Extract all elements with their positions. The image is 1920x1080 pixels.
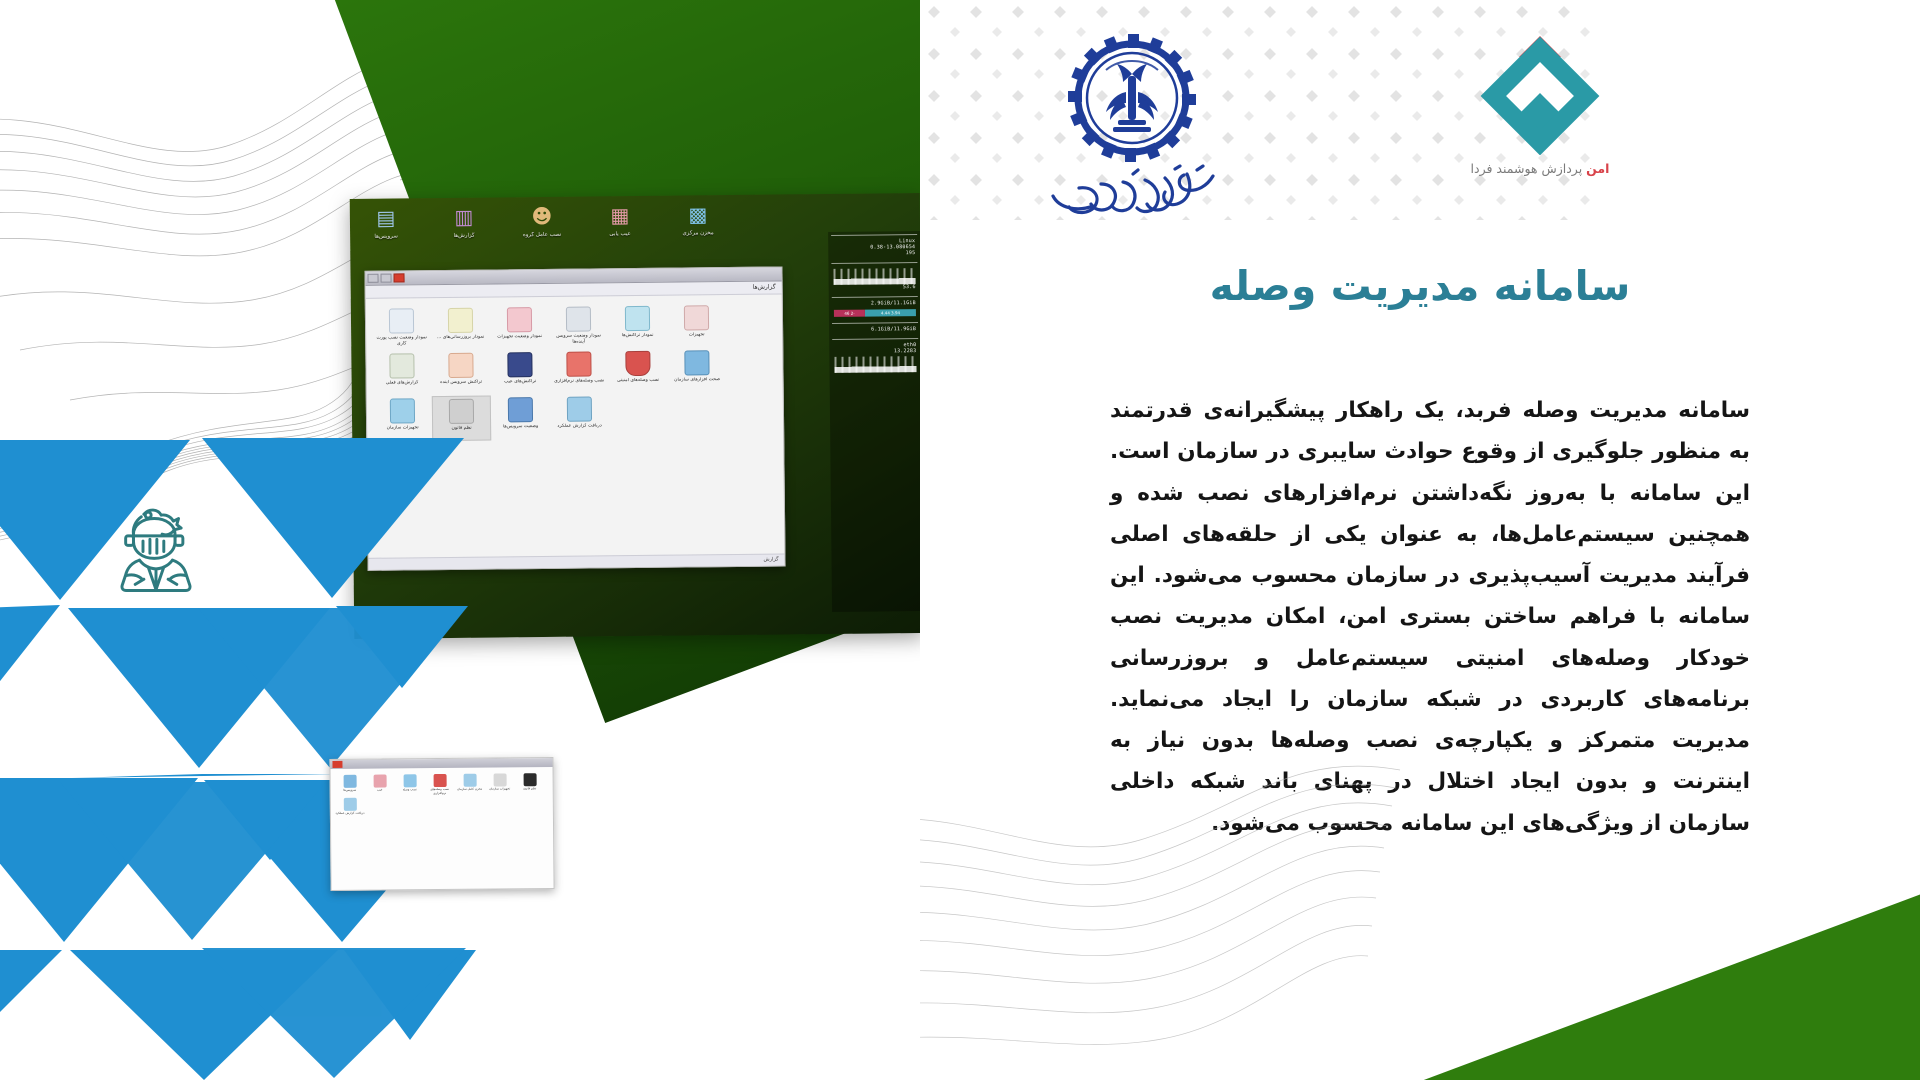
filmstrip-icon bbox=[448, 353, 473, 378]
swap-value: 6.1GiB/11.9GiB bbox=[834, 326, 916, 333]
reports-icon: ▥ bbox=[438, 204, 490, 231]
grid-item-label: تراکنش‌های عیب bbox=[492, 379, 549, 392]
devices-icon bbox=[493, 773, 506, 786]
memory-used-segment: 3.94 4.44 bbox=[865, 309, 916, 317]
grid-item[interactable]: تجهیزات bbox=[667, 303, 726, 347]
desktop-icon: ▤ سرویس‌ها bbox=[360, 204, 413, 267]
sharif-university-logo bbox=[1032, 32, 1232, 212]
desktop-icon: ▥ گزارش‌ها bbox=[438, 204, 491, 267]
grid-item-label: نمودار تراکنش‌ها bbox=[609, 333, 666, 346]
desktop-icon-label: عیب یابی bbox=[594, 231, 646, 238]
report-icon bbox=[389, 353, 414, 378]
topographic-contours-bottom bbox=[920, 760, 1600, 1080]
grid-item-label: نمودار بروزرسانی‌های ... bbox=[432, 335, 489, 348]
services-icon bbox=[343, 775, 356, 788]
blue-triangle-tessellation bbox=[0, 430, 640, 1080]
minimize-icon[interactable] bbox=[367, 274, 378, 283]
desktop-icon-label: مخزن مرکزی bbox=[672, 230, 724, 237]
grid-item-label: نصب وصله‌های نرم‌افزاری bbox=[425, 788, 455, 796]
window-buttons bbox=[367, 273, 404, 282]
content-panel: امن پردازش هوشمند فردا bbox=[920, 0, 1920, 1080]
grid-item-label: مخزن کامل سازمان bbox=[455, 788, 485, 796]
grid-item-label: نصب وصله‌های نرم‌افزاری bbox=[551, 378, 608, 391]
server-icon bbox=[508, 397, 533, 422]
install-agent-icon: ☻ bbox=[516, 203, 568, 230]
net-value: 13.2283 bbox=[834, 348, 916, 355]
grid-item[interactable]: نمودار وضعیت نصب پورت کاری bbox=[372, 306, 431, 350]
grid-item-label: سرویس‌ها bbox=[335, 789, 365, 797]
grid-item-label: عیب bbox=[365, 788, 395, 796]
memory-free-segment: -2 46 bbox=[834, 310, 865, 317]
maximize-icon[interactable] bbox=[380, 274, 391, 283]
grid-item[interactable]: نمودار وضعیت تجهیزات bbox=[490, 305, 549, 349]
troubleshoot-icon bbox=[373, 774, 386, 787]
exchange-icon bbox=[625, 306, 650, 331]
grid-item-label: تجهیزات سازمان bbox=[485, 787, 515, 795]
grid-item-label: تراکنش سرویس آینده bbox=[433, 380, 490, 393]
logo-row: امن پردازش هوشمند فردا bbox=[920, 24, 1920, 214]
grid-item[interactable]: نصب وصله‌های نرم‌افزاری bbox=[425, 774, 455, 796]
pie-chart-icon bbox=[448, 308, 473, 333]
grid-item[interactable]: صحت افزارهای سازمان bbox=[667, 348, 726, 392]
repository-icon bbox=[463, 774, 476, 787]
gavel-icon bbox=[523, 773, 536, 786]
fardad-logo: امن پردازش هوشمند فردا bbox=[1440, 30, 1640, 200]
grid-item-label: نمودار وضعیت سرویس آینده‌ها bbox=[550, 333, 607, 346]
fardad-tagline-rest: پردازش هوشمند فردا bbox=[1471, 161, 1583, 176]
net-sparkline bbox=[834, 356, 916, 373]
secondary-screenshot: سرویس‌ها عیب نصب وصله نصب وصله‌های نرم‌ا… bbox=[329, 757, 554, 891]
kernel-build: 195 bbox=[833, 250, 915, 257]
fardad-tagline-accent: امن bbox=[1586, 161, 1609, 176]
grid-item-label: صحت افزارهای سازمان bbox=[669, 377, 726, 390]
patch-icon bbox=[403, 774, 416, 787]
troubleshoot-icon: ▦ bbox=[594, 202, 646, 229]
left-graphic-panel: ▤ سرویس‌ها ▥ گزارش‌ها ☻ نصب عامل گروه ▦ … bbox=[0, 0, 920, 1080]
grid-item[interactable]: مخزن کامل سازمان bbox=[455, 774, 485, 796]
shield-icon bbox=[625, 351, 650, 376]
cpu-sparkline bbox=[833, 268, 915, 285]
screen-icon bbox=[343, 798, 356, 811]
system-monitor-widget: Linux 0.38-13.080654 195 53.6 2.9GiB/11.… bbox=[828, 231, 920, 612]
services-icon: ▤ bbox=[360, 204, 412, 231]
device-icon bbox=[684, 305, 709, 330]
grid-item-label: تجهیزات bbox=[668, 332, 725, 345]
grid-item[interactable]: نصب وصله‌های نرم‌افزاری bbox=[549, 349, 608, 393]
fardad-tagline: امن پردازش هوشمند فردا bbox=[1440, 161, 1640, 176]
grid-item[interactable]: نمودار وضعیت سرویس آینده‌ها bbox=[549, 304, 608, 348]
memory-value: 2.9GiB/11.1GiB bbox=[834, 300, 916, 307]
grid-item-label: نمودار وضعیت تجهیزات bbox=[491, 334, 548, 347]
bar-chart-icon bbox=[507, 307, 532, 332]
grid-item[interactable]: سرویس‌ها bbox=[335, 775, 365, 797]
grid-item[interactable]: نصب وصله‌های امنیتی bbox=[608, 349, 667, 393]
cloud-icon bbox=[390, 398, 415, 423]
grid-item[interactable]: تراکنش‌های عیب bbox=[490, 350, 549, 394]
module-grid: نمودار وضعیت نصب پورت کاری نمودار بروزرس… bbox=[366, 294, 784, 449]
monitor-block-kernel: Linux 0.38-13.080654 195 bbox=[831, 234, 917, 263]
monitor-block-network: eth0 13.2283 bbox=[832, 338, 918, 379]
chart-line-icon bbox=[389, 308, 414, 333]
desktop-icon-label: سرویس‌ها bbox=[360, 233, 412, 240]
monitor-block-memory: 2.9GiB/11.1GiB 3.94 4.44 -2 46 bbox=[832, 296, 918, 323]
grid-item[interactable]: نصب وصله bbox=[395, 774, 425, 796]
desktop-icon-label: نصب عامل گروه bbox=[516, 232, 568, 239]
desktop-icon: ☻ نصب عامل گروه bbox=[516, 203, 569, 266]
page-title: سامانه مدیریت وصله bbox=[920, 262, 1920, 310]
books-icon bbox=[507, 352, 532, 377]
brochure-page: ▤ سرویس‌ها ▥ گزارش‌ها ☻ نصب عامل گروه ▦ … bbox=[0, 0, 1920, 1080]
grid-item[interactable]: تجهیزات سازمان bbox=[485, 773, 515, 795]
screen-icon bbox=[567, 396, 592, 421]
knight-guard-icon bbox=[104, 496, 208, 600]
grid-item[interactable]: دریافت گزارش عملکرد bbox=[335, 798, 365, 820]
fardad-diamond-mark bbox=[1465, 30, 1615, 155]
grid-item-label: نصب وصله‌های امنیتی bbox=[610, 378, 667, 391]
monitor-block-swap: 6.1GiB/11.9GiB bbox=[832, 322, 918, 339]
close-icon[interactable] bbox=[332, 761, 342, 768]
gavel-icon bbox=[449, 399, 474, 424]
module-grid: سرویس‌ها عیب نصب وصله نصب وصله‌های نرم‌ا… bbox=[331, 767, 553, 826]
grid-item[interactable]: نمودار تراکنش‌ها bbox=[608, 304, 667, 348]
grid-item-label: نظم قانون bbox=[515, 787, 545, 795]
grid-item-label: نصب وصله bbox=[395, 788, 425, 796]
grid-item[interactable]: تراکنش سرویس آینده bbox=[431, 351, 490, 395]
grid-item-label: نمودار وضعیت نصب پورت کاری bbox=[373, 335, 430, 348]
grid-item-label: گزارش‌های فعلی bbox=[374, 380, 431, 393]
group-icon bbox=[566, 306, 591, 331]
close-icon[interactable] bbox=[393, 273, 404, 282]
sharif-calligraphy bbox=[1037, 164, 1227, 218]
central-repo-icon: ▩ bbox=[672, 201, 724, 228]
memory-bar: 3.94 4.44 -2 46 bbox=[834, 309, 916, 317]
grid-item[interactable]: عیب bbox=[365, 774, 395, 796]
grid-item[interactable]: نمودار بروزرسانی‌های ... bbox=[431, 306, 490, 350]
monitor-block-cpu: 53.6 bbox=[831, 262, 917, 297]
desktop-icon-label: گزارش‌ها bbox=[438, 233, 490, 240]
cpu-value: 53.6 bbox=[834, 284, 916, 291]
grid-item[interactable]: نظم قانون bbox=[515, 773, 545, 795]
monitor-icon bbox=[684, 350, 709, 375]
desktop-icon: ▦ عیب یابی bbox=[594, 202, 647, 265]
desktop-icon: ▩ مخزن مرکزی bbox=[672, 201, 725, 264]
package-icon bbox=[566, 351, 591, 376]
grid-item[interactable]: گزارش‌های فعلی bbox=[372, 351, 431, 395]
sharif-gear-emblem bbox=[1066, 32, 1198, 164]
grid-item-label: دریافت گزارش عملکرد bbox=[335, 812, 365, 820]
shield-icon bbox=[433, 774, 446, 787]
